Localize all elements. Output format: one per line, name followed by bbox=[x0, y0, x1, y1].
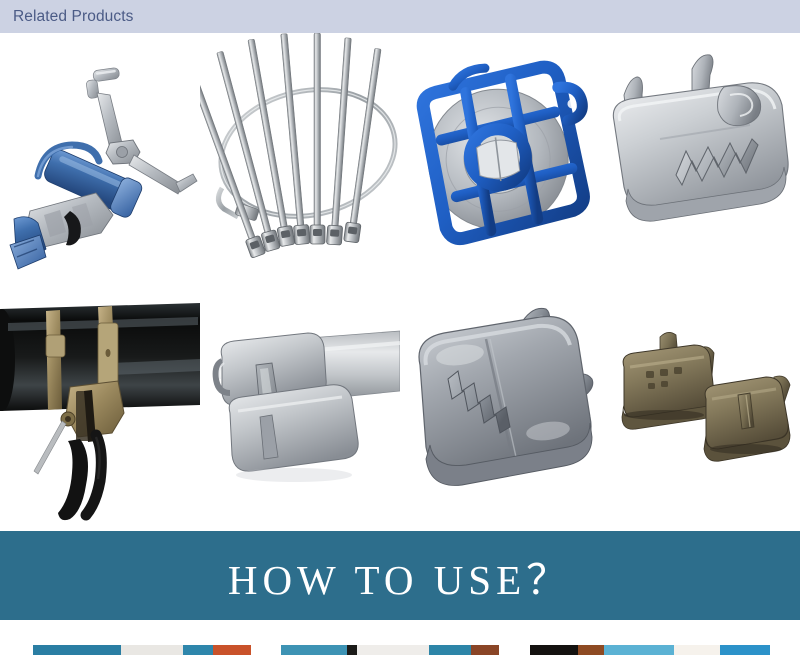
blue-banding-tool-icon bbox=[0, 33, 200, 295]
product-tile-3[interactable] bbox=[400, 33, 600, 295]
howto-step-thumbnail-2[interactable] bbox=[281, 645, 499, 655]
product-tile-8[interactable] bbox=[600, 295, 800, 531]
section-title: Related Products bbox=[13, 9, 134, 25]
product-tile-4[interactable] bbox=[600, 33, 800, 295]
product-tile-5[interactable] bbox=[0, 295, 200, 531]
related-products-grid bbox=[0, 33, 800, 531]
ear-lock-buckle-closeup-icon bbox=[400, 295, 600, 531]
product-tile-6[interactable] bbox=[200, 295, 400, 531]
stainless-steel-cable-ties-icon bbox=[200, 33, 400, 295]
related-products-header: Related Products bbox=[0, 0, 800, 33]
stainless-ear-lock-buckle-icon bbox=[600, 33, 800, 295]
how-to-use-title: HOW TO USE？ bbox=[228, 546, 572, 606]
howto-step-thumbnail-3[interactable] bbox=[530, 645, 770, 655]
blue-band-dispenser-icon bbox=[400, 33, 600, 295]
how-to-use-thumbnail-strip bbox=[0, 620, 800, 655]
how-to-use-banner: HOW TO USE？ bbox=[0, 531, 800, 620]
banding-tool-in-use-icon bbox=[0, 295, 200, 531]
brass-wing-lock-buckles-icon bbox=[600, 295, 800, 531]
product-tile-7[interactable] bbox=[400, 295, 600, 531]
product-tile-1[interactable] bbox=[0, 33, 200, 295]
product-tile-2[interactable] bbox=[200, 33, 400, 295]
howto-step-thumbnail-1[interactable] bbox=[33, 645, 251, 655]
buckle-with-strapping-band-icon bbox=[200, 295, 400, 531]
